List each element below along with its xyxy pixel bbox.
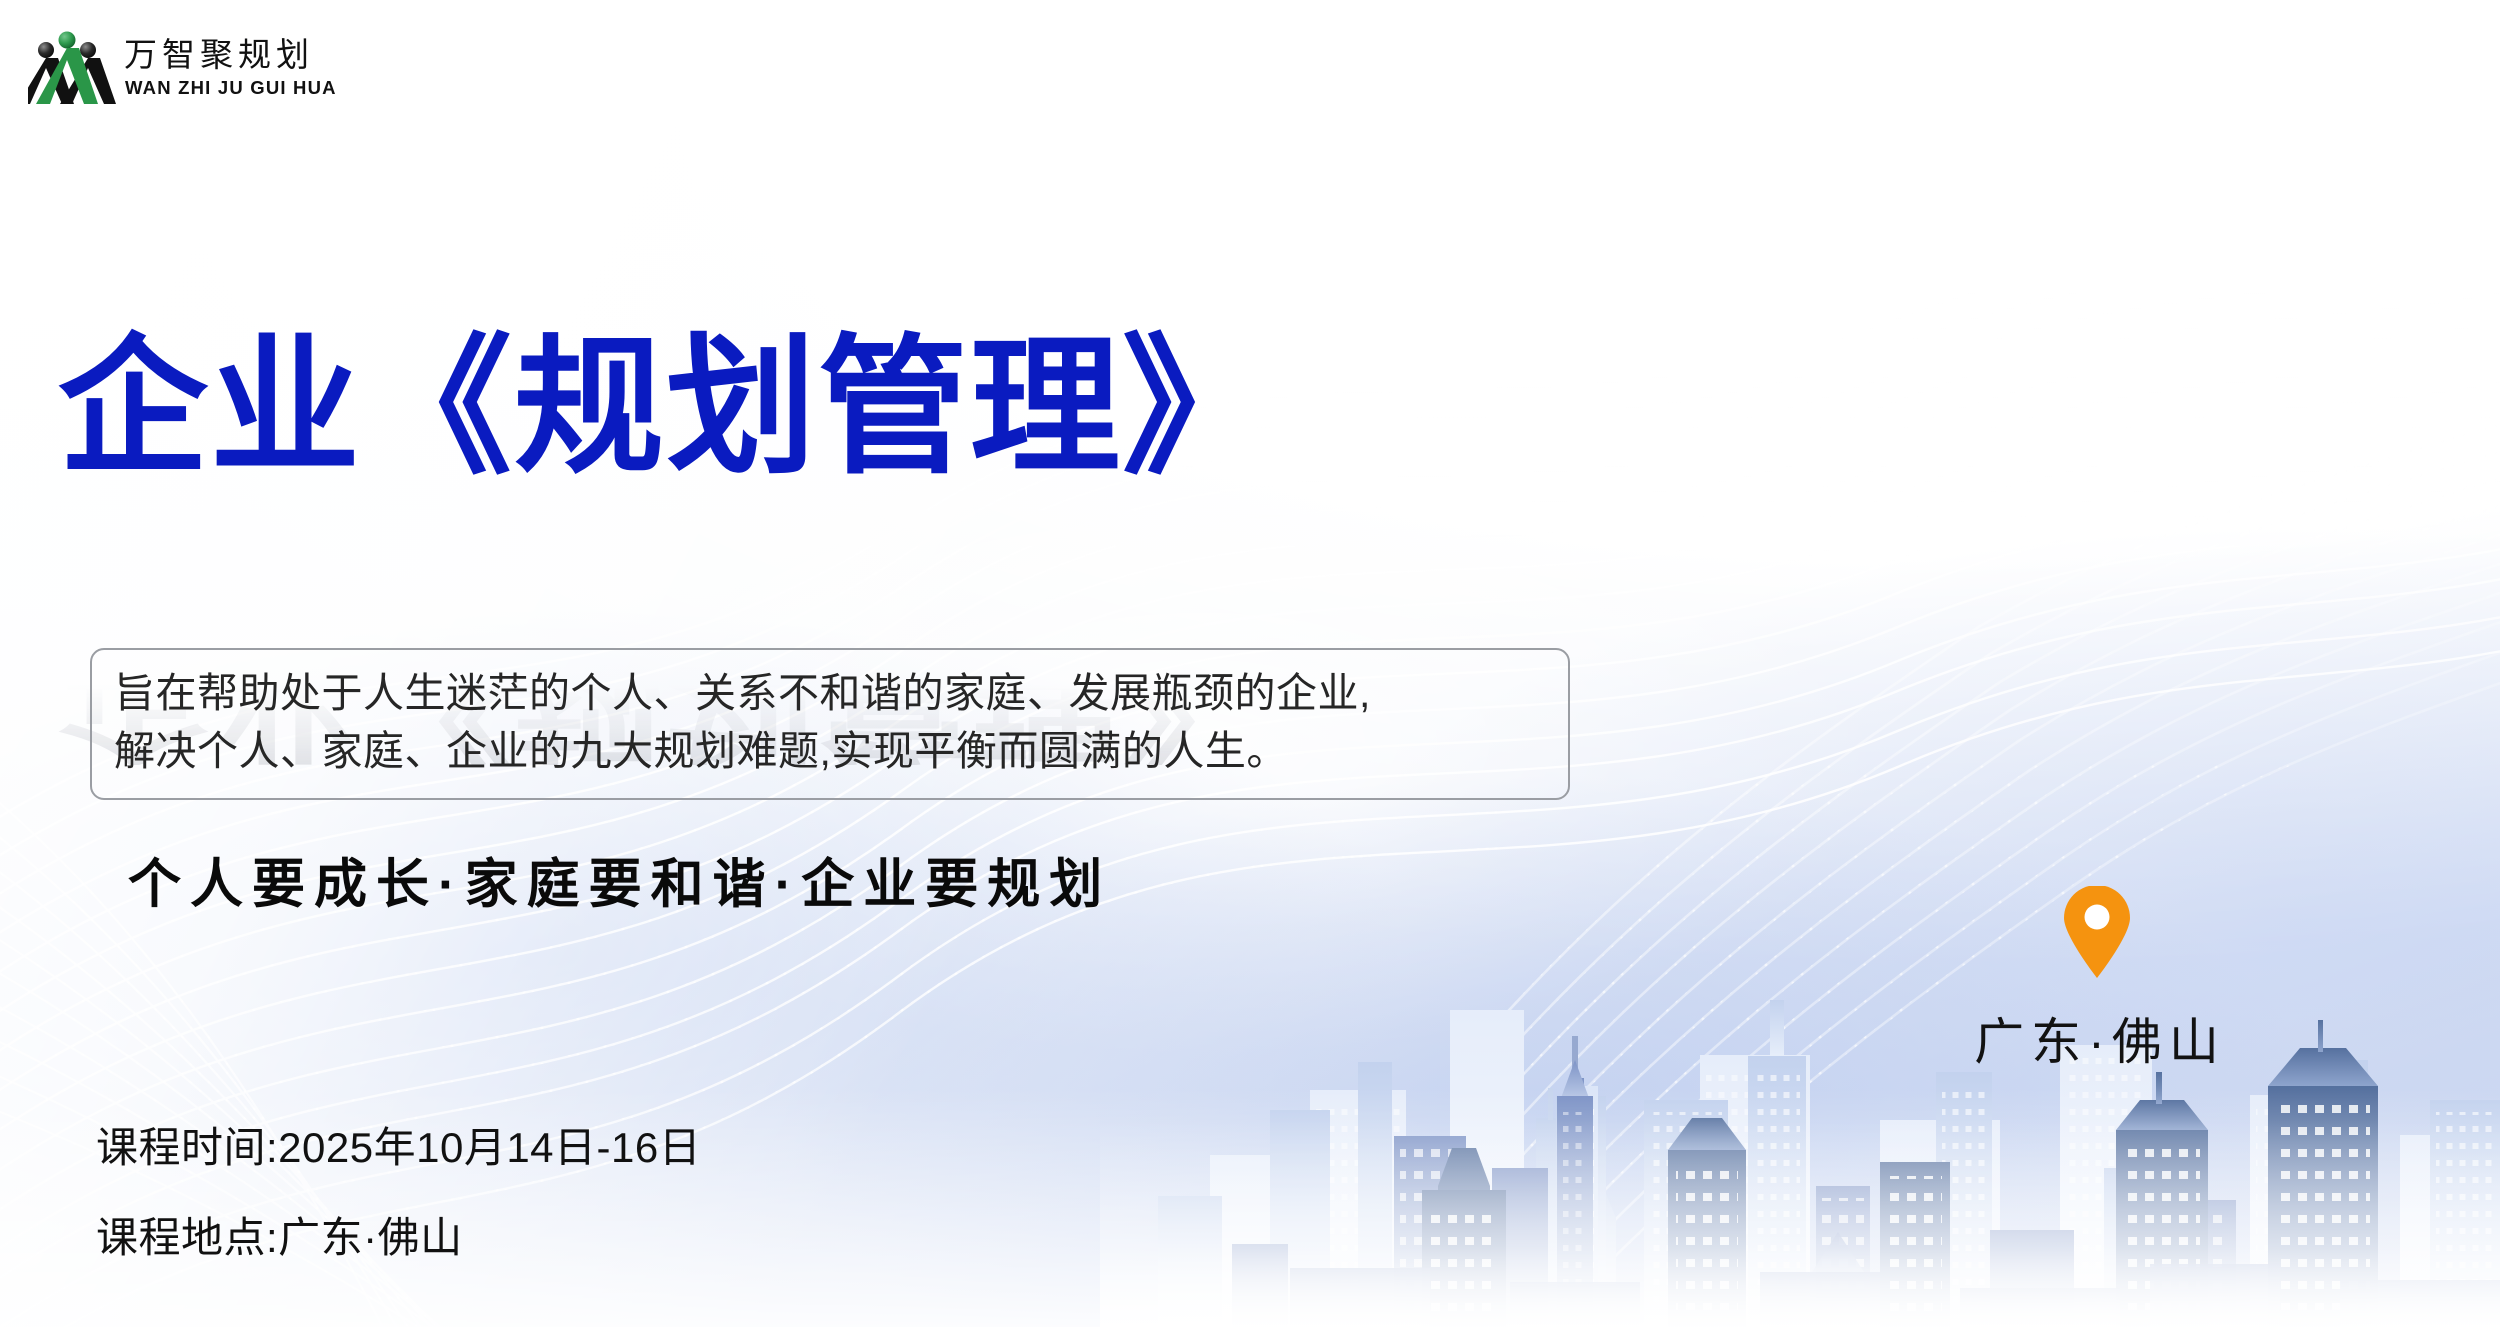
location-city-label: 广东·佛山	[1950, 1002, 2250, 1074]
brand-name-cn: 万智聚规划	[124, 37, 314, 74]
page-title: 企业《规划管理》	[58, 332, 1274, 482]
three-people-logo-icon: 万智聚规划 WAN ZHI JU GUI HUA	[28, 18, 428, 104]
description-line-1: 旨在帮助处于人生迷茫的个人、关系不和谐的家庭、发展瓶颈的企业,	[114, 664, 1546, 722]
course-time: 课程时间:2025年10月14日-16日	[96, 1127, 701, 1169]
description-box: 旨在帮助处于人生迷茫的个人、关系不和谐的家庭、发展瓶颈的企业, 解决个人、家庭、…	[90, 648, 1570, 800]
location-pin	[2062, 886, 2132, 978]
description-line-2: 解决个人、家庭、企业的九大规划难题,实现平衡而圆满的人生。	[114, 722, 1546, 780]
course-place: 课程地点:广东·佛山	[96, 1217, 701, 1259]
brand-logo[interactable]: 万智聚规划 WAN ZHI JU GUI HUA	[28, 18, 428, 104]
map-pin-icon	[2062, 886, 2132, 978]
brand-name-pinyin: WAN ZHI JU GUI HUA	[125, 77, 337, 98]
course-info: 课程时间:2025年10月14日-16日 课程地点:广东·佛山	[96, 1127, 701, 1259]
tagline: 个人要成长·家庭要和谐·企业要规划	[128, 842, 1111, 918]
poster-canvas: 万智聚规划 WAN ZHI JU GUI HUA 企业《规划管理》 企业《规划管…	[0, 0, 2500, 1327]
